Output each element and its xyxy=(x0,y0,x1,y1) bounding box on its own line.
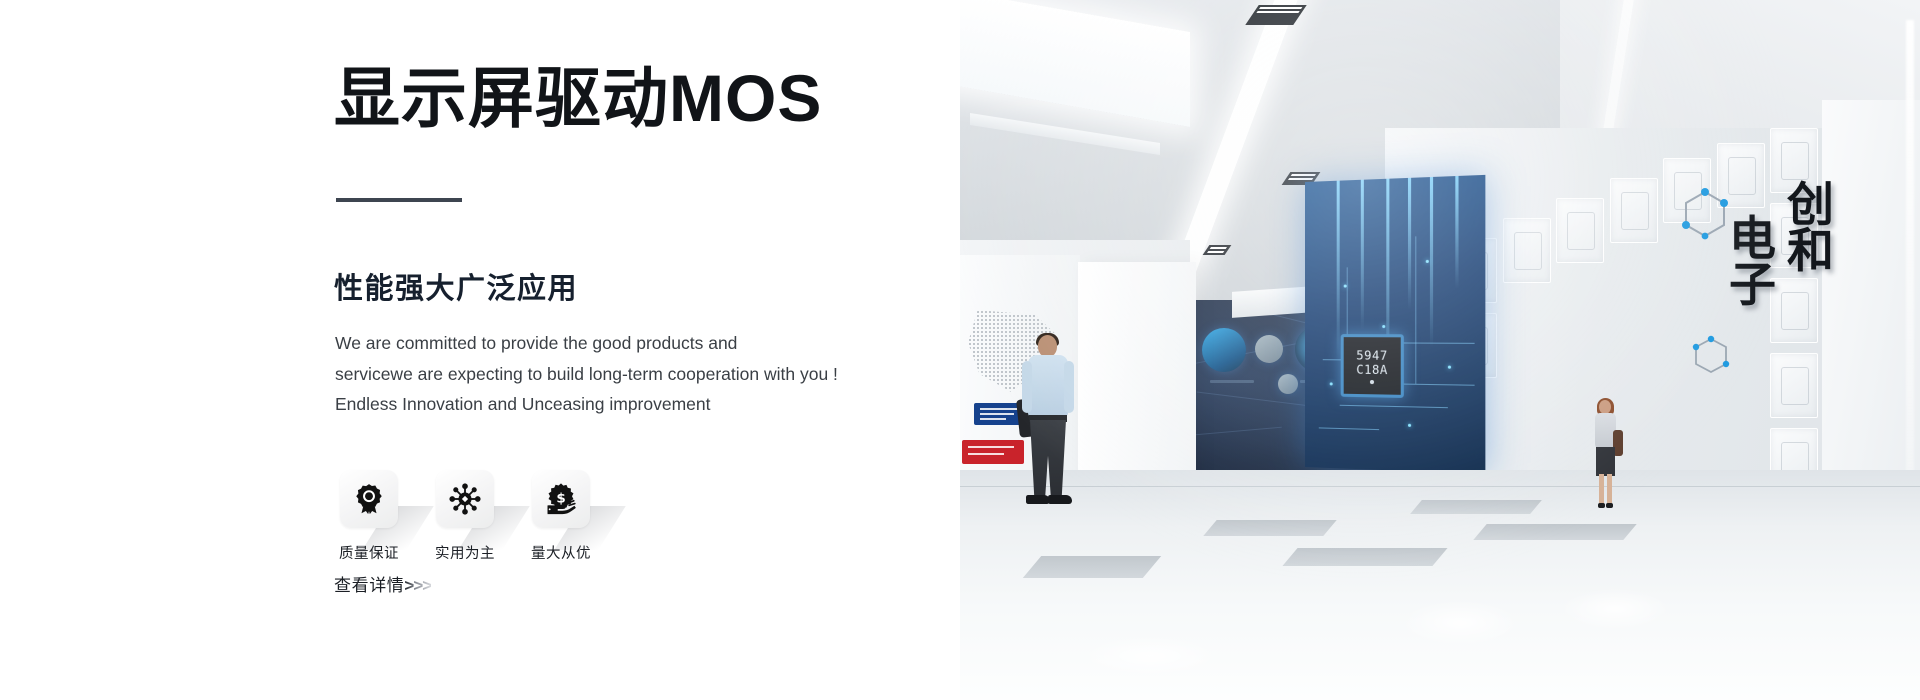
body-line-1: We are committed to provide the good pro… xyxy=(335,328,838,359)
skirt xyxy=(1596,447,1615,476)
led-display-screen: 5947 C18A xyxy=(1305,175,1485,474)
banner-stage: 显示屏驱动MOS 性能强大广泛应用 We are committed to pr… xyxy=(0,0,1920,700)
chip-code-line-1: 5947 xyxy=(1356,348,1387,363)
feature-list: 质量保证 xyxy=(334,470,596,563)
leg-right xyxy=(1607,474,1612,504)
feature-label: 质量保证 xyxy=(339,542,399,563)
body-paragraph: We are committed to provide the good pro… xyxy=(335,328,838,420)
chip-graphic: 5947 C18A xyxy=(1341,334,1404,398)
red-wall-plaque xyxy=(962,440,1024,464)
view-details-link[interactable]: 查看详情>>> xyxy=(334,571,431,596)
signage-char: 创 xyxy=(1787,182,1834,228)
arm-left xyxy=(1022,361,1032,413)
molecule-hexagon-icon-small xyxy=(1690,334,1732,382)
page-subtitle: 性能强大广泛应用 xyxy=(334,265,578,307)
signage-column-right: 创 和 xyxy=(1787,182,1834,274)
feature-label: 量大从优 xyxy=(531,542,591,563)
wall-circle-photo xyxy=(1278,374,1298,394)
signage-char: 电 xyxy=(1729,216,1776,262)
title-divider xyxy=(336,198,462,202)
feature-item-quality[interactable]: 质量保证 xyxy=(334,470,404,563)
feature-label: 实用为主 xyxy=(435,542,495,563)
floor-reflection xyxy=(1400,600,1520,646)
showroom-photo: 5947 C18A 创 和 电 xyxy=(960,0,1920,700)
head xyxy=(1038,335,1057,357)
chip-code-line-2: C18A xyxy=(1356,362,1387,377)
arm-right xyxy=(1064,361,1074,413)
wall-circle-photo xyxy=(1202,328,1246,372)
signage-column-left: 电 子 xyxy=(1729,216,1776,308)
page-title: 显示屏驱动MOS xyxy=(334,62,822,135)
chip-pin1-dot-icon xyxy=(1370,379,1374,383)
shoe-left xyxy=(1598,503,1605,508)
signage-char: 子 xyxy=(1729,262,1776,308)
network-hub-icon xyxy=(448,482,482,516)
trousers xyxy=(1030,420,1066,498)
cta-label: 查看详情 xyxy=(334,576,404,595)
shoe-right xyxy=(1048,495,1072,504)
hand-money-icon: $ xyxy=(544,482,578,516)
signage-char: 和 xyxy=(1787,228,1834,274)
head xyxy=(1599,400,1611,414)
feature-icon-tile xyxy=(340,470,398,528)
shoe-left xyxy=(1026,495,1050,504)
woman-walking xyxy=(1588,400,1622,510)
wall-signage: 创 和 电 子 xyxy=(1660,182,1840,402)
feature-icon-tile: $ xyxy=(532,470,590,528)
body-line-2: servicewe are expecting to build long-te… xyxy=(335,359,838,390)
feature-item-bulk-discount[interactable]: $ 量大从优 xyxy=(526,470,596,563)
shoe-right xyxy=(1606,503,1613,508)
wall-circle-photo xyxy=(1255,335,1283,363)
cta-arrows-icon: >>> xyxy=(404,576,431,595)
molecule-hexagon-icon xyxy=(1678,186,1732,248)
award-ribbon-icon xyxy=(352,482,386,516)
feature-icon-tile xyxy=(436,470,494,528)
floor-reflection xyxy=(1080,636,1220,676)
left-text-panel: 显示屏驱动MOS 性能强大广泛应用 We are committed to pr… xyxy=(0,0,960,700)
feature-item-practical[interactable]: 实用为主 xyxy=(430,470,500,563)
floor-reflection xyxy=(1560,588,1670,630)
dress-shirt xyxy=(1028,355,1068,417)
leg-left xyxy=(1599,474,1604,504)
man-standing xyxy=(1020,335,1076,510)
svg-text:$: $ xyxy=(556,492,565,507)
body-line-3: Endless Innovation and Unceasing improve… xyxy=(335,389,838,420)
